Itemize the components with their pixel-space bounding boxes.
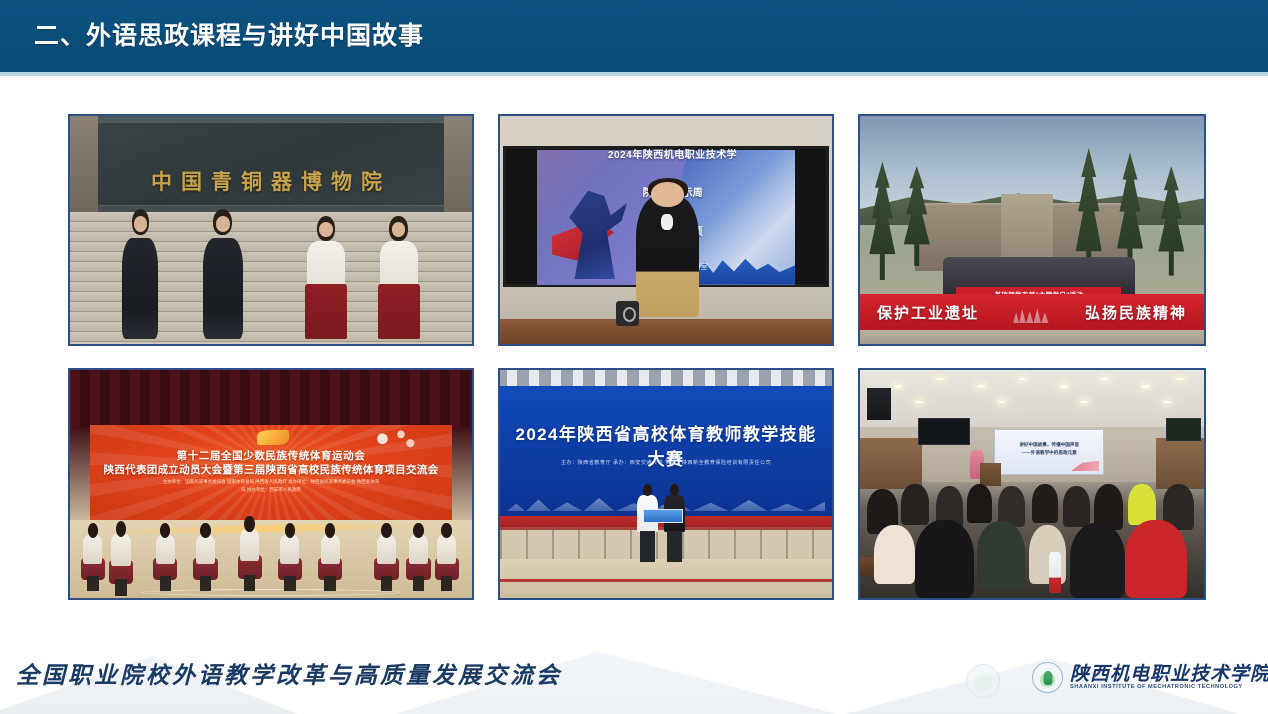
museum-wall: [70, 116, 472, 212]
stage-backdrop: 第十二届全国少数民族传统体育运动会 陕西代表团成立动员大会暨第三届陕西省高校民族…: [90, 425, 452, 521]
slide-header-bar: 二、外语思政课程与讲好中国故事: [0, 0, 1268, 72]
person-figure: [122, 209, 158, 339]
school-seal-icon: [1032, 662, 1063, 693]
photo-bronze-museum-content: 中国青铜器博物院: [70, 116, 472, 344]
photo-lecture-hall[interactable]: 讲好中国故事，传播中国声音 ——外语教学中的思政元素: [858, 368, 1206, 600]
dancer-figure: [319, 523, 341, 591]
museum-pillar-right: [444, 116, 472, 212]
screen-title-line-2: ——外语教学中的思政元素: [1004, 450, 1095, 456]
court-circle-line: [142, 589, 399, 596]
audience-head: [1070, 523, 1125, 598]
dancer-figure: [82, 523, 104, 591]
presentation-screen: 讲好中国故事，传播中国声音 ——外语教学中的思政元素: [994, 429, 1104, 475]
school-name-block: 陕西机电职业技术学院 SHAANXI INSTITUTE OF MECHATRO…: [1070, 665, 1268, 691]
slide-root: 二、外语思政课程与讲好中国故事 中国青铜器博物院: [0, 0, 1268, 714]
person-figure: [203, 209, 243, 339]
audience-head: [1032, 484, 1058, 523]
wood-panel-left: [860, 438, 922, 488]
banner-logo-icon: [1013, 301, 1051, 324]
classroom-desk: [500, 319, 832, 344]
backdrop-organizers: 主办单位：国家民族事务委员会 国家体育总局 陕西省人民政府 承办单位：陕西省民族…: [162, 478, 379, 493]
person-figure: [307, 216, 345, 339]
mascot-icon: [257, 430, 290, 445]
school-name-en: SHAANXI INSTITUTE OF MECHATRONIC TECHNOL…: [1070, 685, 1268, 691]
photo-pe-teaching-contest[interactable]: 2024年陕西省高校体育教师教学技能大赛 主办：陕西省教育厅 承办：西安交通大学…: [498, 368, 834, 600]
page-title: 二、外语思政课程与讲好中国故事: [34, 24, 424, 49]
speaker-box-icon: [867, 388, 891, 420]
banner-text-left: 保护工业遗址: [877, 302, 979, 323]
museum-pillar-left: [70, 116, 98, 212]
backdrop-title-line-1: 第十二届全国少数民族传统体育运动会: [105, 448, 438, 463]
hall-ceiling: [860, 370, 1204, 429]
red-banner: 保护工业遗址 弘扬民族精神: [860, 294, 1204, 330]
dancer-figure: [195, 523, 217, 591]
wood-panel-right: [1156, 438, 1204, 488]
monitor-right: [1166, 418, 1200, 441]
dancer-figure: [376, 523, 398, 591]
photo-english-skills-week[interactable]: 2024年陕西机电职业技术学 院技能展示周 英语口语赛项 基础部公共英语教研室 …: [498, 114, 834, 346]
water-bottle: [1049, 552, 1061, 593]
audience-head: [967, 484, 993, 523]
dancer-figure: [408, 523, 430, 591]
school-name-cn: 陕西机电职业技术学院: [1070, 665, 1268, 684]
dancer-figure: [110, 521, 132, 596]
dancer-figure: [239, 516, 261, 591]
audience-head: [915, 520, 973, 598]
screen-title-line-1: 2024年陕西机电职业技术学: [520, 146, 825, 161]
audience-head: [1063, 486, 1091, 527]
audience-head: [1125, 520, 1187, 598]
photo-party-day-activity-content: 基础部党支部“主题党日”活动 保护工业遗址 弘扬民族精神: [860, 116, 1204, 344]
ground-pavement: [860, 330, 1204, 344]
watermark-seal-icon: [966, 664, 1000, 698]
audience-head: [1128, 484, 1156, 525]
stage-curtain: [70, 370, 472, 427]
audience-head: [874, 525, 915, 584]
lecture-podium: [980, 463, 1001, 486]
backdrop-title-line-2: 陕西代表团成立动员大会暨第三届陕西省高校民族传统体育项目交流会: [97, 462, 444, 477]
court-red-line: [500, 579, 832, 582]
person-figure: [636, 484, 659, 562]
audience-head: [977, 521, 1025, 589]
contest-backdrop-subtitle: 主办：陕西省教育厅 承办：西安交通大学 赞助：陕西新全教育保险培训有限责任公司: [533, 459, 799, 466]
person-figure: [380, 216, 418, 339]
photo-ethnic-sports-games-content: 第十二届全国少数民族传统体育运动会 陕西代表团成立动员大会暨第三届陕西省高校民族…: [70, 370, 472, 598]
photo-bronze-museum[interactable]: 中国青铜器博物院 四名身着汉服的师生在中国青铜器博物院前合唱: [68, 114, 474, 346]
photo-party-day-activity[interactable]: 基础部党支部“主题党日”活动 保护工业遗址 弘扬民族精神 师生在工业遗址前手持红…: [858, 114, 1206, 346]
header-underline: [0, 72, 1268, 76]
dancer-figure: [436, 523, 458, 591]
school-logo: 陕西机电职业技术学院 SHAANXI INSTITUTE OF MECHATRO…: [1032, 662, 1268, 693]
banner-text-right: 弘扬民族精神: [1085, 302, 1187, 323]
person-figure: [663, 484, 686, 562]
monitor-left: [918, 418, 970, 445]
podium-device: [616, 301, 639, 326]
screen-title-line-1: 讲好中国故事，传播中国声音: [1004, 442, 1095, 448]
photo-grid: 中国青铜器博物院 四名身着汉服的师生在中国青铜器博物院前合唱: [68, 114, 1206, 600]
slide-footer: 全国职业院校外语教学改革与高质量发展交流会 陕西机电职业技术学院 SHAANXI…: [0, 638, 1268, 714]
photo-pe-teaching-contest-content: 2024年陕西省高校体育教师教学技能大赛 主办：陕西省教育厅 承办：西安交通大学…: [500, 370, 832, 598]
photo-english-skills-week-content: 2024年陕西机电职业技术学 院技能展示周 英语口语赛项 基础部公共英语教研室: [500, 116, 832, 344]
microphone-icon: [661, 214, 673, 230]
museum-sign-text: 中国青铜器博物院: [70, 166, 472, 196]
award-certificate: [643, 509, 683, 523]
dancer-figure: [154, 523, 176, 591]
audience-head: [901, 484, 929, 525]
photo-ethnic-sports-games[interactable]: 第十二届全国少数民族传统体育运动会 陕西代表团成立动员大会暨第三届陕西省高校民族…: [68, 368, 474, 600]
speaker-head: [651, 182, 684, 207]
conference-title: 全国职业院校外语教学改革与高质量发展交流会: [16, 656, 562, 690]
dancer-figure: [279, 523, 301, 591]
photo-lecture-hall-content: 讲好中国故事，传播中国声音 ——外语教学中的思政元素: [860, 370, 1204, 598]
